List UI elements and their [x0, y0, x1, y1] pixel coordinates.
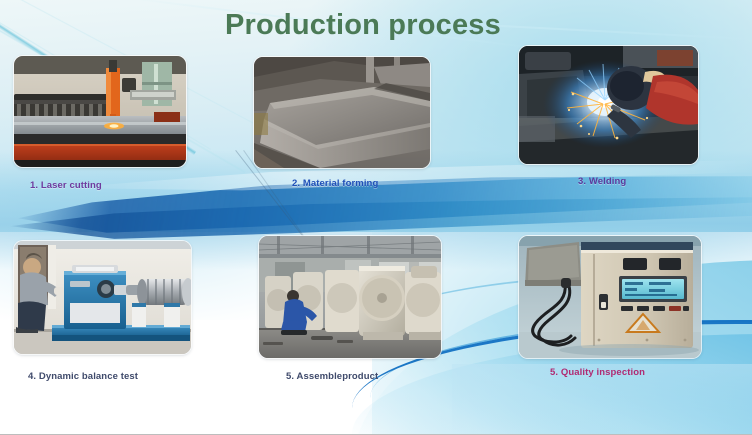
photo-material-forming[interactable] [254, 57, 430, 168]
page-title: Production process [225, 9, 501, 42]
caption-step-3: 3. Welding [578, 176, 626, 187]
photo-laser-cutting[interactable] [14, 56, 186, 167]
caption-step-5: 5. Assembleproduct [286, 371, 378, 382]
photo-quality-inspection[interactable] [519, 236, 701, 358]
welding-illustration [519, 46, 698, 164]
caption-step-1: 1. Laser cutting [30, 180, 102, 191]
photo-assemble-product[interactable] [259, 236, 441, 358]
photo-welding[interactable] [519, 46, 698, 164]
control-cabinet-illustration [519, 236, 701, 358]
steel-sheets-illustration [254, 57, 430, 168]
production-process-slide: Production process [0, 0, 752, 435]
wave-wedge-upper [18, 176, 752, 242]
balance-machine-illustration [14, 241, 191, 354]
assembly-line-illustration [259, 236, 441, 358]
caption-step-2: 2. Material forming [292, 178, 378, 189]
caption-step-4: 4. Dynamic balance test [28, 371, 138, 382]
photo-dynamic-balance-test[interactable] [14, 241, 191, 354]
caption-step-6: 5. Quality inspection [550, 367, 645, 378]
laser-cutting-machine-illustration [14, 56, 186, 167]
